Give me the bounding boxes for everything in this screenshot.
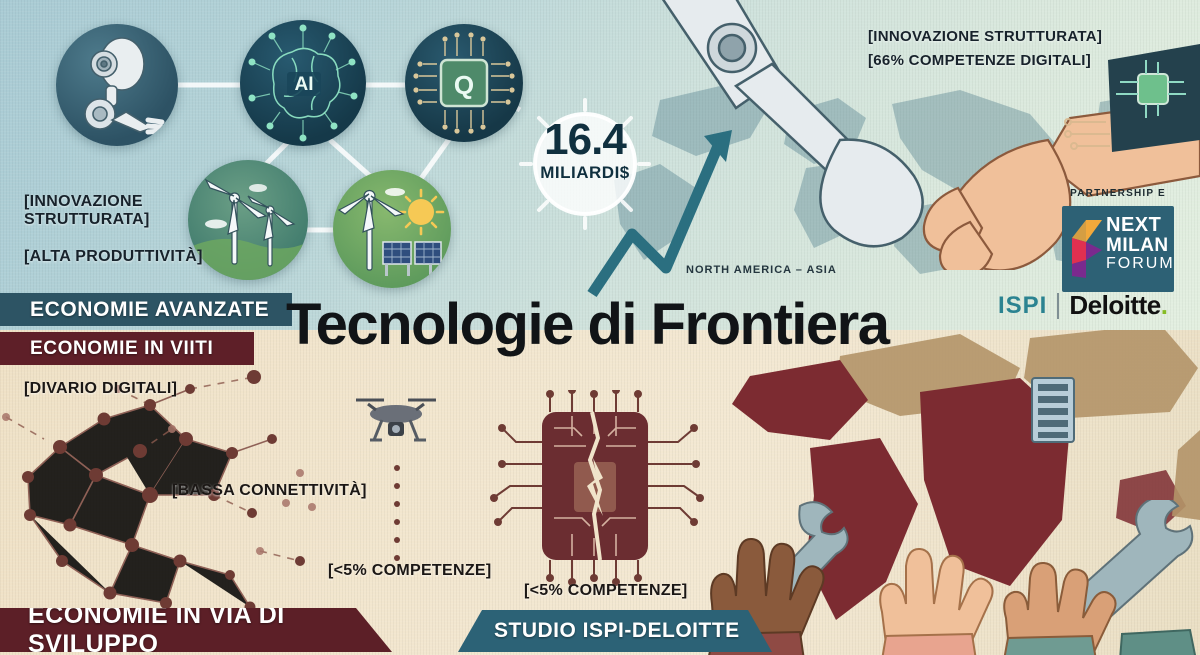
page-title: Tecnologie di Frontiera [286, 296, 888, 354]
nmf-mark-icon [1070, 220, 1102, 278]
humanoid-robot-icon [56, 24, 178, 146]
nmf-line-forum: FORUM [1106, 256, 1175, 273]
map-caption-north-america-asia: NORTH AMERICA – ASIA [686, 264, 837, 276]
label-competenze-digitali: [66% COMPETENZE DIGITALI] [868, 52, 1091, 69]
quantum-label: Q [454, 70, 474, 100]
label-divario-digitali: [DIVARIO DIGITALI] [24, 380, 177, 398]
deloitte-wordmark: Deloitte [1069, 290, 1160, 320]
drone-icon [350, 388, 442, 458]
banner-economie-avanzate: ECONOMIE AVANZATE [0, 293, 292, 326]
label-bassa-connettivita: [BASSA CONNETTIVITÀ] [172, 482, 367, 500]
logo-divider [1057, 293, 1059, 319]
infographic-canvas: AI [0, 0, 1200, 655]
label-innovazione-strutturata-left: [INNOVAZIONE STRUTTURATA] [24, 193, 150, 230]
banner-economie-in-via-di-sviluppo: ECONOMIE IN VIA DI SVILUPPO [0, 608, 392, 652]
nmf-line-milan: MILAN [1106, 236, 1175, 256]
ispi-logo: ISPI [998, 292, 1047, 320]
ai-brain-icon: AI [240, 20, 366, 146]
ispi-deloitte-logo-row[interactable]: ISPI Deloitte. [998, 290, 1167, 321]
advanced-economies-panel: AI [0, 0, 1200, 330]
partnership-label: PARTNERSHIP E [1062, 188, 1174, 199]
wind-turbines-icon [188, 160, 308, 280]
solar-wind-energy-icon [333, 170, 451, 288]
label-competenze-left: [<5% COMPETENZE] [328, 562, 492, 580]
developing-economies-panel: [DIVARIO DIGITALI] [BASSA CONNETTIVITÀ] … [0, 330, 1200, 655]
label-innovazione-strutturata-right: [INNOVAZIONE STRUTTURATA] [868, 28, 1102, 45]
banner-studio-ispi-deloitte: STUDIO ISPI-DELOITTE [458, 610, 772, 652]
nmf-line-next: NEXT [1106, 215, 1175, 236]
next-milan-forum-logo[interactable]: NEXT MILAN FORUM [1062, 206, 1174, 292]
deloitte-logo: Deloitte. [1069, 290, 1167, 321]
label-competenze-right: [<5% COMPETENZE] [524, 582, 688, 600]
deloitte-dot: . [1161, 290, 1168, 320]
banner-economie-in-viiti: ECONOMIE IN VIITI [0, 332, 254, 365]
drone-signal-dots-icon [392, 462, 402, 574]
ai-label: AI [295, 74, 314, 95]
quantum-chip-icon: Q [405, 24, 523, 142]
label-alta-produttivita: [ALTA PRODUTTIVITÀ] [24, 248, 203, 266]
